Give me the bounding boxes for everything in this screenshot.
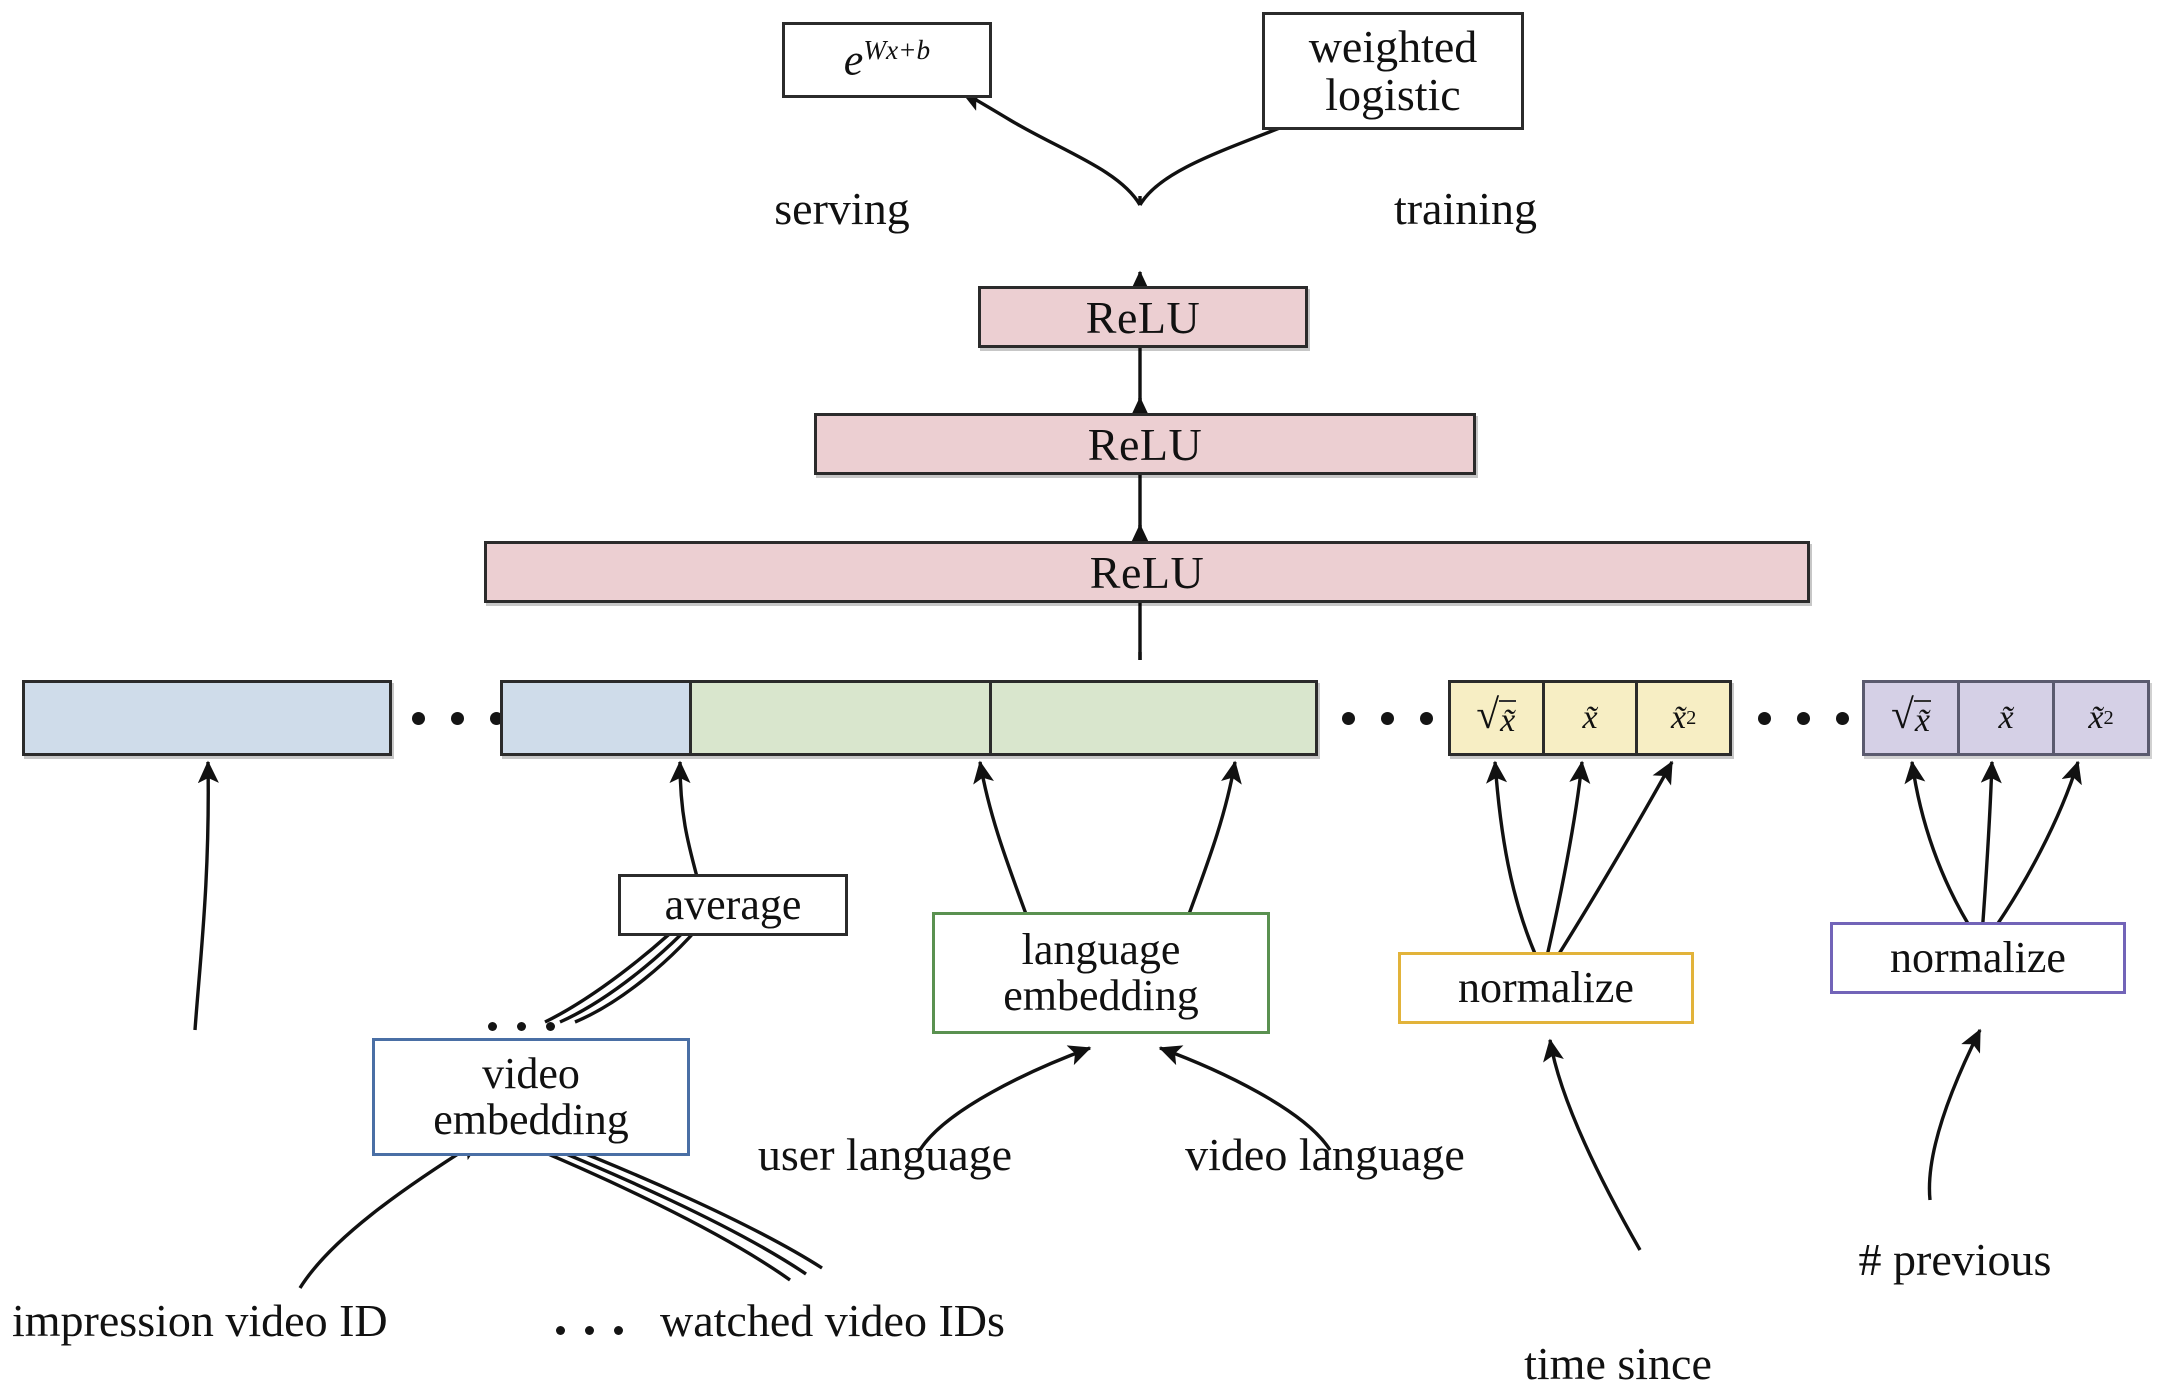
feature-row-ellipsis-2 [1342,712,1433,725]
video-embedding-line2: embedding [433,1097,629,1143]
serving-output-box: eWx+b [782,22,992,98]
training-box-line1: weighted [1309,23,1478,71]
relu-label: ReLU [1088,418,1202,471]
feature-segment-linear: x̃ [1542,683,1636,753]
feature-segment-video-language-embedding [989,683,1315,753]
language-embedding-line1: language [1022,927,1181,973]
feature-segment-square: x̃2 [1635,683,1729,753]
feature-segment-square: x̃2 [2052,683,2147,753]
feature-segment [25,683,389,753]
feature-segment-sqrt: √x̃ [1865,683,1957,753]
feature-row-ellipsis-1 [412,712,503,725]
bottom-ellipsis [556,1326,623,1335]
watched-video-ids-label: watched video IDs [660,1296,1160,1346]
language-embedding-box: language embedding [932,912,1270,1034]
user-language-label: user language [720,1130,1050,1180]
average-box: average [618,874,848,936]
feature-segment-sqrt: √x̃ [1451,683,1542,753]
serving-formula: eWx+b [844,36,930,84]
normalize-time-label: normalize [1458,965,1634,1011]
training-box-line2: logistic [1325,71,1460,119]
serving-label: serving [742,184,942,234]
figure-canvas: eWx+b weighted logistic serving training… [0,0,2170,1386]
feature-block-previous-impressions: √x̃ x̃ x̃2 [1862,680,2150,756]
normalize-time-box: normalize [1398,952,1694,1024]
video-embedding-line1: video [482,1051,580,1097]
previous-impressions-label: # previous impressions [1790,1136,2120,1386]
feature-block-impression-video-embedding [22,680,392,756]
relu-label: ReLU [1090,546,1204,599]
impression-video-id-label: impression video ID [12,1296,552,1346]
video-embedding-ellipsis [488,1022,555,1031]
relu-layer-bottom: ReLU [484,541,1810,603]
relu-layer-top: ReLU [978,286,1308,348]
feature-segment-watched-video-embedding [503,683,689,753]
feature-segment-linear: x̃ [1957,683,2052,753]
feature-segment-user-language-embedding [689,683,989,753]
video-language-label: video language [1150,1130,1500,1180]
normalize-impressions-label: normalize [1890,935,2066,981]
previous-impressions-line1: # previous [1790,1235,2120,1285]
feature-row-ellipsis-3 [1758,712,1849,725]
training-output-box: weighted logistic [1262,12,1524,130]
language-embedding-line2: embedding [1003,973,1199,1019]
relu-label: ReLU [1086,291,1200,344]
time-since-last-watch-line1: time since [1468,1339,1768,1386]
normalize-impressions-box: normalize [1830,922,2126,994]
relu-layer-middle: ReLU [814,413,1476,475]
feature-block-embeddings-group [500,680,1318,756]
average-label: average [665,882,802,928]
feature-block-time-since-last-watch: √x̃ x̃ x̃2 [1448,680,1732,756]
video-embedding-box: video embedding [372,1038,690,1156]
time-since-last-watch-label: time since last watch [1468,1240,1768,1386]
training-label: training [1358,184,1573,234]
